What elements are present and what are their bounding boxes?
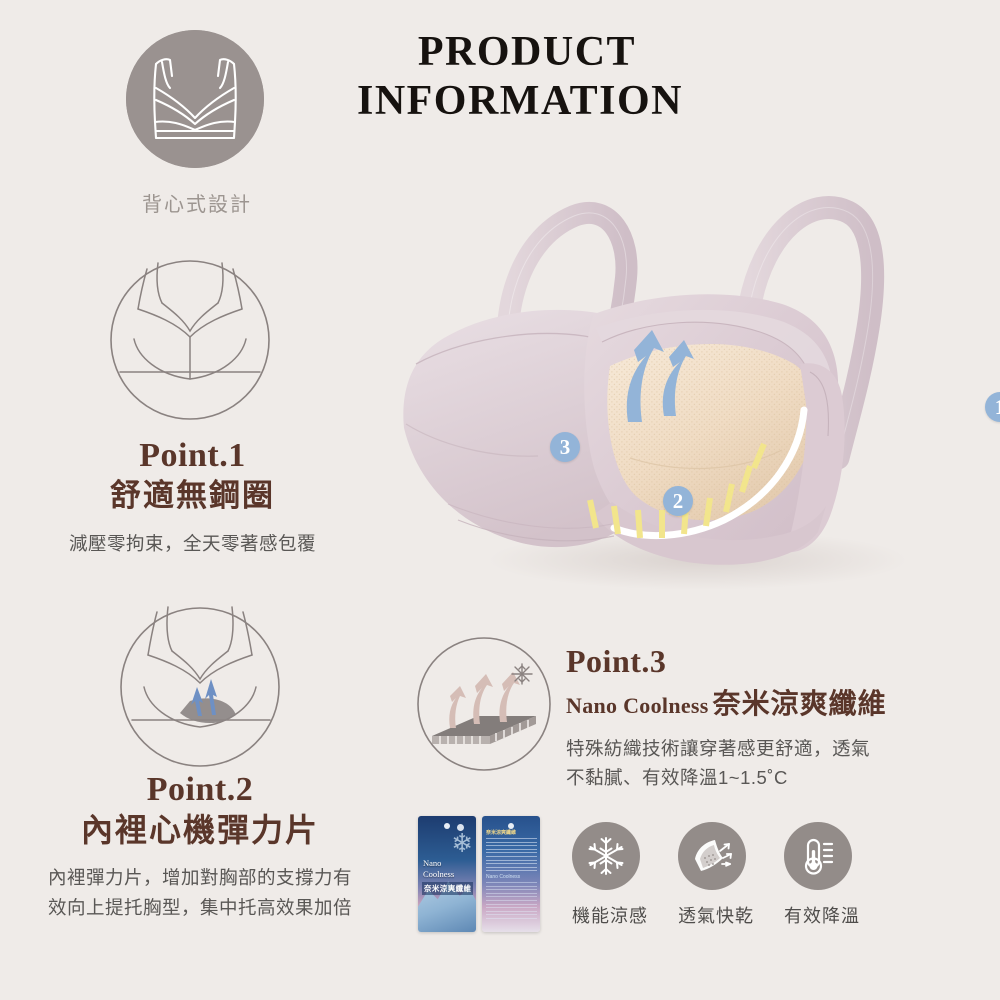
bra-elastic-pad-icon: [102, 603, 298, 775]
point-1-eng: Point.1: [0, 438, 385, 474]
design-badge-label: 背心式設計: [126, 188, 268, 217]
point-1-zh: 舒適無鋼圈: [0, 476, 385, 516]
point-3-block: Point.3 Nano Coolness奈米涼爽纖維 特殊紡織技術讓穿著感更舒…: [566, 645, 986, 793]
callout-2-number: 2: [663, 486, 693, 516]
bra-outline-icon: [100, 253, 280, 428]
page-title-line1: PRODUCT: [330, 28, 710, 77]
feature-temp-drop: 有效降溫: [784, 822, 852, 928]
feature-breathable: 透氣快乾: [678, 822, 746, 928]
point-3-subtitle: Nano Coolness奈米涼爽纖維: [566, 682, 986, 722]
callout-1-number: 1: [985, 392, 1000, 422]
feature-breathable-label: 透氣快乾: [678, 902, 746, 928]
design-badge: 背心式設計: [126, 30, 268, 217]
hangtag-hole-icon: [508, 823, 514, 829]
product-photo: [398, 128, 998, 598]
thermometer-icon: [784, 822, 852, 890]
point-3-eng: Point.3: [566, 645, 986, 679]
breathable-fabric-icon: [404, 624, 564, 784]
point-3-desc: 特殊紡織技術讓穿著感更舒適，透氣 不黏膩、有效降溫1~1.5˚C: [566, 734, 986, 793]
snowflake-icon: ❄: [451, 830, 473, 856]
feature-icon-row: 機能涼感: [572, 822, 852, 928]
hangtag-group: ❄ Nano Coolness 奈米涼爽纖維 奈米涼爽纖維 Nano Cooln…: [418, 816, 544, 934]
fabric-layer-icon: [678, 822, 746, 890]
callout-1: 1: [985, 392, 1000, 422]
callout-3-number: 3: [550, 432, 580, 462]
sports-bra-icon: [126, 30, 264, 168]
point-1-desc: 減壓零拘束，全天零著感包覆: [0, 530, 385, 559]
hangtag-front: ❄ Nano Coolness 奈米涼爽纖維: [418, 816, 476, 932]
hangtag-hole-icon: [444, 823, 450, 829]
point-2-eng: Point.2: [0, 772, 400, 808]
point-2-desc: 內裡彈力片，增加對胸部的支撐力有 效向上提托胸型，集中托高效果加倍: [0, 863, 400, 922]
feature-temp-drop-label: 有效降溫: [784, 902, 852, 928]
point-2-zh: 內裡心機彈力片: [0, 810, 400, 852]
point-1-block: Point.1 舒適無鋼圈 減壓零拘束，全天零著感包覆: [0, 438, 385, 559]
feature-cooling-label: 機能涼感: [572, 902, 640, 928]
point-3-sub-eng: Nano Coolness: [566, 693, 709, 718]
point-3-desc-line1: 特殊紡織技術讓穿著感更舒適，透氣: [566, 734, 986, 764]
hangtag-back-heading-eng: Nano Coolness: [486, 874, 537, 882]
infographic-page: PRODUCT INFORMATION 背心式設計: [0, 0, 1000, 1000]
point-2-desc-line2: 效向上提托胸型，集中托高效果加倍: [0, 893, 400, 923]
feature-cooling: 機能涼感: [572, 822, 640, 928]
hangtag-back: 奈米涼爽纖維 Nano Coolness: [482, 816, 540, 932]
page-title: PRODUCT INFORMATION: [330, 28, 710, 125]
point-3-sub-zh: 奈米涼爽纖維: [713, 688, 887, 719]
page-title-line2: INFORMATION: [330, 77, 710, 126]
hangtag-back-body-zh: [486, 838, 537, 874]
hangtag-back-heading-zh: 奈米涼爽纖維: [486, 830, 537, 838]
hangtag-front-zh: 奈米涼爽纖維: [422, 882, 473, 895]
hangtag-back-body-eng: [486, 882, 537, 922]
point-2-block: Point.2 內裡心機彈力片 內裡彈力片，增加對胸部的支撐力有 效向上提托胸型…: [0, 772, 400, 922]
callout-2: 2: [663, 486, 693, 516]
hangtag-front-eng: Nano Coolness: [423, 858, 454, 881]
snowflake-icon: [572, 822, 640, 890]
point-2-desc-line1: 內裡彈力片，增加對胸部的支撐力有: [0, 863, 400, 893]
callout-3: 3: [550, 432, 580, 462]
point-3-desc-line2: 不黏膩、有效降溫1~1.5˚C: [566, 763, 986, 793]
